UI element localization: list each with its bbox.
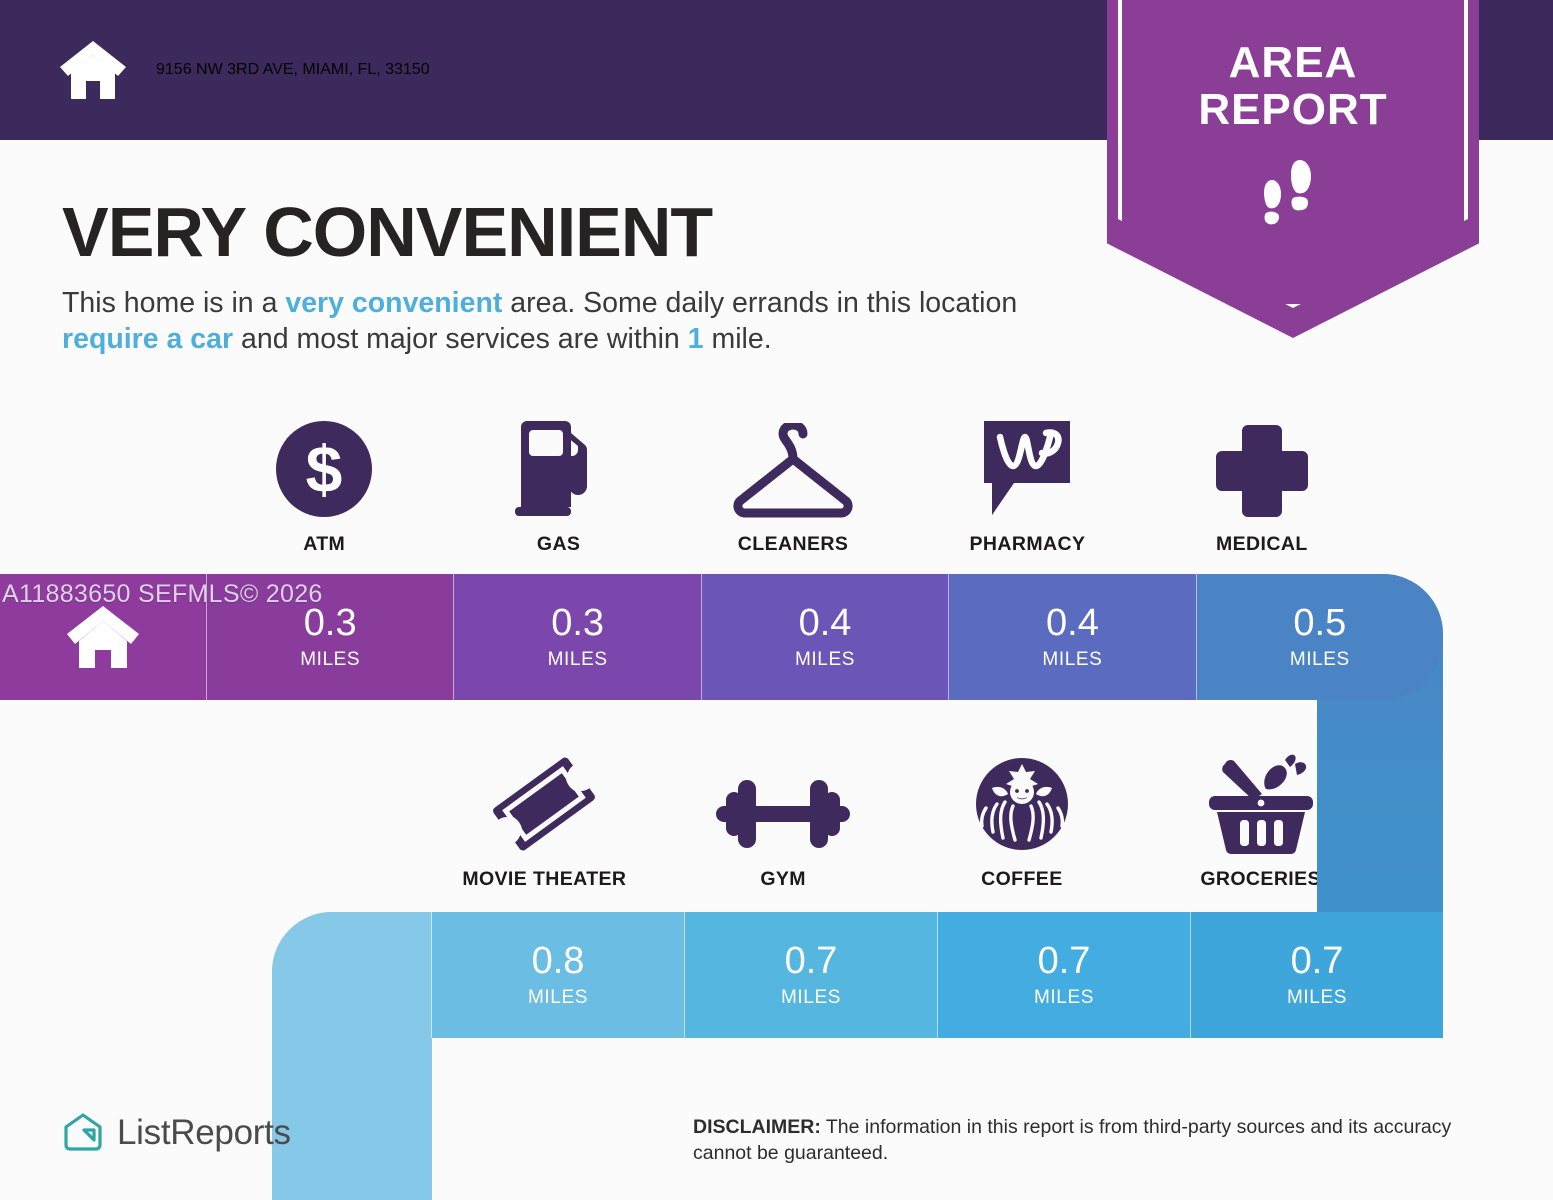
amenity-label: PHARMACY bbox=[969, 533, 1085, 556]
amenity-label: GAS bbox=[537, 533, 580, 556]
icon-art bbox=[980, 415, 1074, 519]
distance-unit: MILES bbox=[795, 649, 855, 671]
icon-art: $ bbox=[274, 415, 374, 519]
badge-line-2: REPORT bbox=[1118, 87, 1468, 134]
amenity-label: MEDICAL bbox=[1216, 533, 1308, 556]
distance-value: 0.7 bbox=[1038, 942, 1091, 980]
footprints-icon bbox=[1252, 158, 1336, 238]
distance-value: 0.7 bbox=[1291, 942, 1344, 980]
listreports-house-icon bbox=[62, 1112, 104, 1154]
area-report-title: AREA REPORT bbox=[1118, 40, 1468, 133]
coat-hanger-icon bbox=[730, 423, 856, 519]
distance-row-1-segment: 0.4MILES bbox=[702, 574, 949, 700]
distance-value: 0.3 bbox=[304, 604, 357, 642]
distance-row-2: 0.8MILES0.7MILES0.7MILES0.7MILES bbox=[272, 912, 1443, 1038]
summary-highlight: very convenient bbox=[285, 287, 502, 319]
amenity-atm: $ ATM bbox=[207, 415, 441, 556]
medical-cross-icon bbox=[1214, 423, 1310, 519]
amenity-label: CLEANERS bbox=[738, 533, 848, 556]
distance-unit: MILES bbox=[1034, 987, 1094, 1009]
amenity-row-1: $ ATM GAS bbox=[207, 415, 1379, 556]
amenity-medical: MEDICAL bbox=[1145, 415, 1379, 556]
walgreens-w-icon bbox=[980, 419, 1074, 519]
distance-unit: MILES bbox=[300, 649, 360, 671]
home-icon bbox=[64, 603, 142, 671]
brand-name: ListReports bbox=[117, 1113, 291, 1153]
dollar-circle-icon: $ bbox=[274, 419, 374, 519]
svg-text:$: $ bbox=[306, 432, 343, 506]
distance-unit: MILES bbox=[1290, 649, 1350, 671]
distance-value: 0.4 bbox=[1046, 604, 1099, 642]
distance-unit: MILES bbox=[781, 987, 841, 1009]
icon-art bbox=[730, 415, 856, 519]
distance-value: 0.8 bbox=[532, 942, 585, 980]
distance-row-2-segment: 0.7MILES bbox=[938, 912, 1191, 1038]
distance-value: 0.7 bbox=[785, 942, 838, 980]
mls-watermark: A11883650 SEFMLS© 2026 bbox=[2, 580, 323, 609]
summary-plain: and most major services are within bbox=[233, 323, 688, 355]
distance-row-1-segment: 0.4MILES bbox=[949, 574, 1196, 700]
distance-unit: MILES bbox=[528, 987, 588, 1009]
summary-plain: This home is in a bbox=[62, 287, 285, 319]
ribbon-lead-segment bbox=[272, 912, 432, 1038]
distance-unit: MILES bbox=[548, 649, 608, 671]
disclaimer: DISCLAIMER: The information in this repo… bbox=[693, 1114, 1498, 1166]
distance-unit: MILES bbox=[1287, 987, 1347, 1009]
icon-art bbox=[507, 415, 611, 519]
amenity-pharmacy: PHARMACY bbox=[910, 415, 1144, 556]
distance-row-1-segment: 0.3MILES bbox=[454, 574, 701, 700]
distance-unit: MILES bbox=[1042, 649, 1102, 671]
summary-highlight: require a car bbox=[62, 323, 233, 355]
distance-value: 0.4 bbox=[799, 604, 852, 642]
page-address: 9156 NW 3RD AVE, MIAMI, FL, 33150 bbox=[156, 61, 430, 79]
distance-row-2-segment: 0.7MILES bbox=[685, 912, 938, 1038]
amenity-gas: GAS bbox=[441, 415, 675, 556]
summary-plain: mile. bbox=[704, 323, 772, 355]
page-title: VERY CONVENIENT bbox=[62, 192, 712, 272]
distance-row-2-segment: 0.7MILES bbox=[1191, 912, 1443, 1038]
gas-pump-icon bbox=[507, 419, 611, 519]
distance-row-1-segment: 0.5MILES bbox=[1197, 574, 1443, 700]
header-content: 9156 NW 3RD AVE, MIAMI, FL, 33150 bbox=[58, 0, 430, 140]
amenity-label: ATM bbox=[303, 533, 345, 556]
distance-row-2-segment: 0.8MILES bbox=[432, 912, 685, 1038]
badge-line-1: AREA bbox=[1118, 40, 1468, 87]
disclaimer-label: DISCLAIMER: bbox=[693, 1116, 821, 1138]
summary-text: This home is in a very convenient area. … bbox=[62, 285, 1092, 357]
summary-plain: area. Some daily errands in this locatio… bbox=[502, 287, 1017, 319]
icon-art bbox=[1214, 415, 1310, 519]
distance-ribbon: 0.3MILES0.3MILES0.4MILES0.4MILES0.5MILES… bbox=[0, 560, 1553, 1200]
distance-value: 0.5 bbox=[1293, 604, 1346, 642]
home-icon bbox=[58, 39, 128, 101]
amenity-cleaners: CLEANERS bbox=[676, 415, 910, 556]
listreports-logo[interactable]: ListReports bbox=[62, 1112, 291, 1154]
summary-highlight: 1 bbox=[688, 323, 704, 355]
distance-value: 0.3 bbox=[551, 604, 604, 642]
